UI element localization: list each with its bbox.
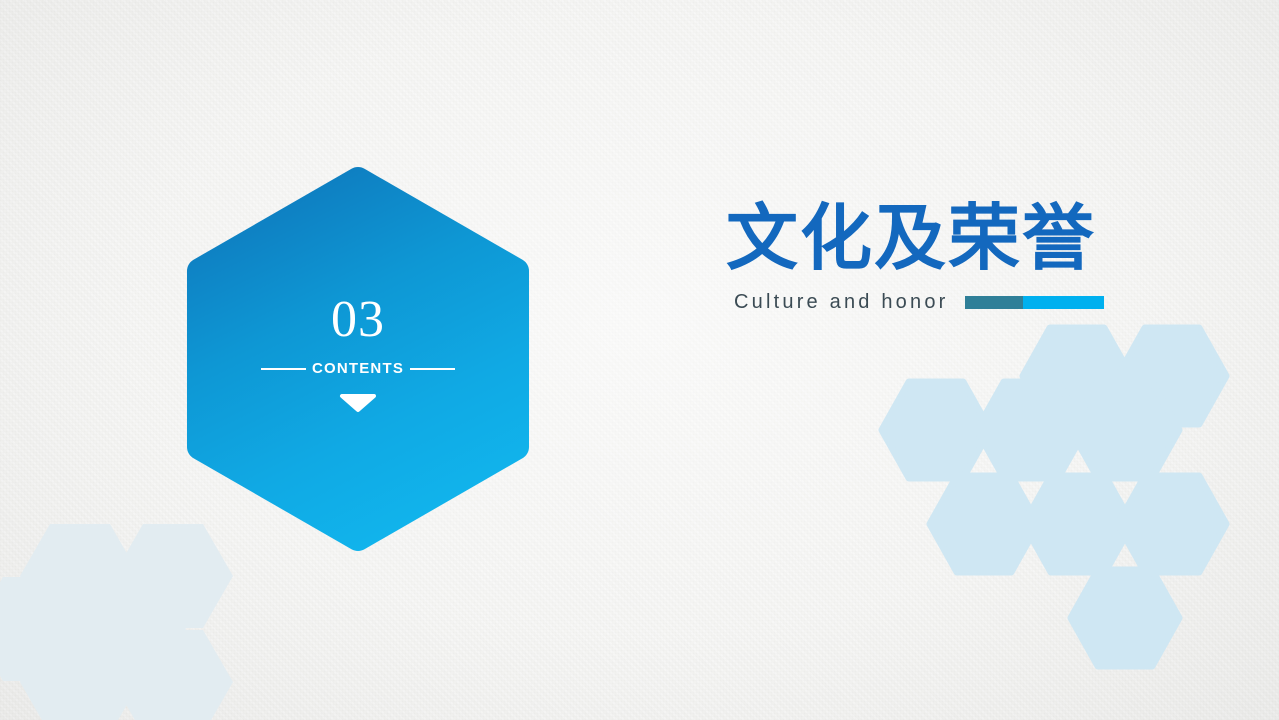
page-title: 文化及荣誉 [726, 196, 1104, 282]
accent-bar-dark-segment [965, 296, 1023, 309]
contents-hexagon-badge[interactable]: 03 CONTENTS [183, 166, 533, 552]
contents-hexagon-shape [183, 166, 533, 552]
accent-bar-light-segment [1023, 296, 1104, 309]
presentation-slide: 03 CONTENTS 文化及荣誉 Culture and honor [0, 0, 1279, 720]
honeycomb-decoration-right [860, 318, 1279, 720]
accent-bar [965, 296, 1104, 309]
page-subtitle: Culture and honor [734, 290, 949, 314]
slide-heading-block: 文化及荣誉 Culture and honor [726, 196, 1104, 314]
subtitle-row: Culture and honor [734, 290, 1104, 314]
